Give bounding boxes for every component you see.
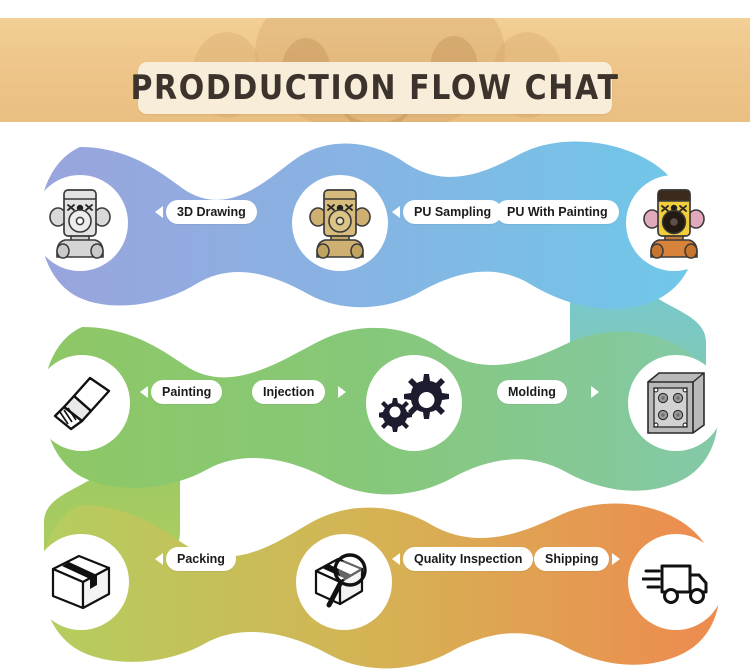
tan-bear-figure-icon [309, 187, 371, 259]
conn-molding[interactable]: Molding [497, 380, 567, 404]
mold-block-icon [645, 370, 707, 436]
arrow-injection [338, 386, 346, 398]
conn-molding-label: Molding [508, 385, 556, 399]
conn-packing-label: Packing [177, 552, 225, 566]
arrow-pu-with-painting [611, 206, 619, 218]
page-title: PRODDUCTION FLOW CHAT [130, 68, 619, 107]
page-header: PRODDUCTION FLOW CHAT [0, 18, 750, 122]
conn-injection-label: Injection [263, 385, 314, 399]
arrow-painting [140, 386, 148, 398]
delivery-truck-icon [642, 558, 710, 606]
conn-quality-inspection[interactable]: Quality Inspection [403, 547, 533, 571]
conn-3d-drawing-label: 3D Drawing [177, 205, 246, 219]
node-paintbrush[interactable] [34, 355, 130, 451]
conn-packing[interactable]: Packing [166, 547, 236, 571]
arrow-pu-sampling [392, 206, 400, 218]
conn-painting[interactable]: Painting [151, 380, 222, 404]
arrow-molding [591, 386, 599, 398]
magnifier-over-box-icon [312, 549, 376, 615]
node-pu-sample[interactable] [292, 175, 388, 271]
conn-pu-with-painting[interactable]: PU With Painting [496, 200, 619, 224]
conn-shipping-label: Shipping [545, 552, 598, 566]
carton-box-icon [49, 552, 113, 612]
node-mold[interactable] [628, 355, 724, 451]
arrow-3d-drawing [155, 206, 163, 218]
node-3d-model[interactable] [32, 175, 128, 271]
arrow-packing [155, 553, 163, 565]
conn-3d-drawing[interactable]: 3D Drawing [166, 200, 257, 224]
conn-pu-with-painting-label: PU With Painting [507, 205, 608, 219]
conn-injection[interactable]: Injection [252, 380, 325, 404]
gears-icon [379, 372, 449, 434]
painted-bear-figure-icon [643, 187, 705, 259]
conn-painting-label: Painting [162, 385, 211, 399]
node-carton[interactable] [33, 534, 129, 630]
conn-pu-sampling[interactable]: PU Sampling [403, 200, 502, 224]
paintbrush-icon [49, 374, 115, 432]
gray-bear-figure-icon [49, 187, 111, 259]
production-flow-diagram: 3D Drawing PU Sampling PU With Painting [0, 122, 750, 670]
arrow-shipping [612, 553, 620, 565]
conn-quality-inspection-label: Quality Inspection [414, 552, 522, 566]
arrow-quality-inspection [392, 553, 400, 565]
title-plate: PRODDUCTION FLOW CHAT [138, 62, 612, 114]
node-inspect[interactable] [296, 534, 392, 630]
node-painted-bear[interactable] [626, 175, 722, 271]
conn-pu-sampling-label: PU Sampling [414, 205, 491, 219]
node-truck[interactable] [628, 534, 724, 630]
node-gears[interactable] [366, 355, 462, 451]
conn-shipping[interactable]: Shipping [534, 547, 609, 571]
